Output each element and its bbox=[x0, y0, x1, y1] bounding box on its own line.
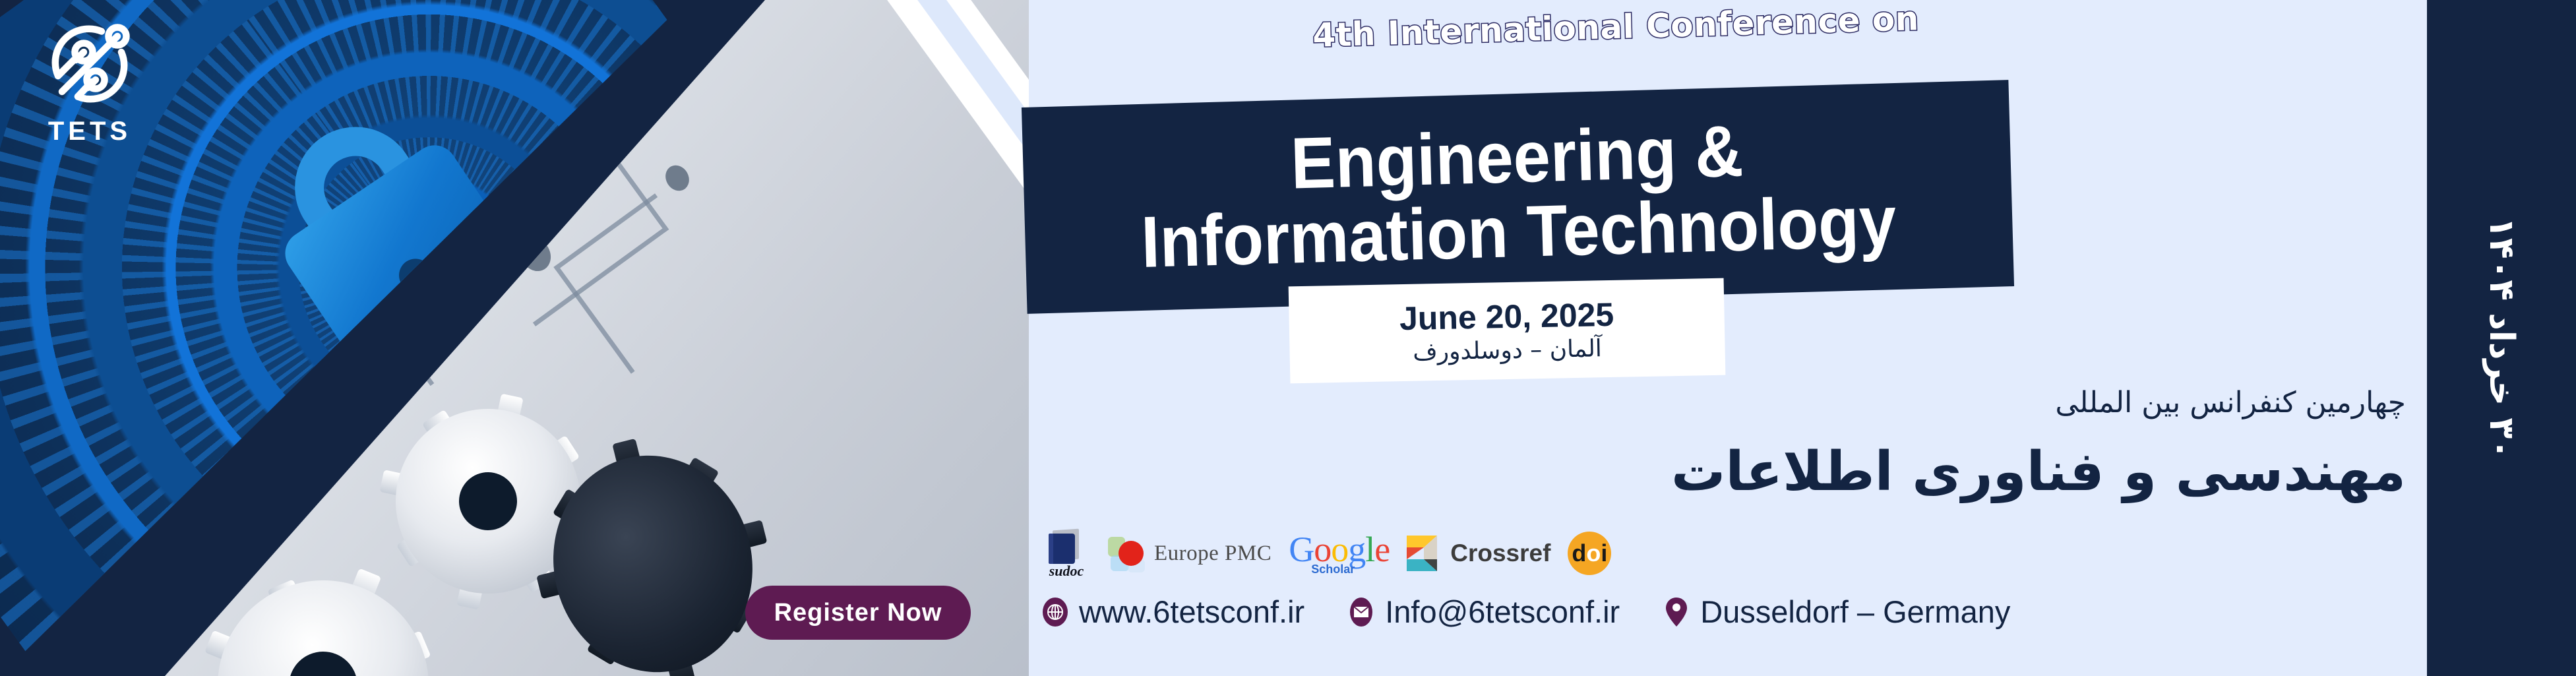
email-text: Info@6tetsconf.ir bbox=[1385, 594, 1620, 630]
title-card: Engineering & Information Technology bbox=[1022, 80, 2014, 314]
pretitle: 4th International Conference on bbox=[1120, 0, 2110, 60]
sudoc-label: sudoc bbox=[1042, 563, 1091, 580]
scholar-sublabel: Scholar bbox=[1311, 563, 1355, 576]
contact-email[interactable]: Info@6tetsconf.ir bbox=[1348, 594, 1620, 630]
location-text: Dusseldorf – Germany bbox=[1700, 594, 2010, 630]
date-card: June 20, 2025 آلمان – دوسلدورف bbox=[1289, 278, 1726, 384]
pretitle-text: 4th International Conference on bbox=[1312, 0, 1919, 55]
doi-badge: doi bbox=[1568, 532, 1611, 575]
sidebar-persian-date: ۳۰ خرداد ۱۴۰۴ bbox=[2482, 217, 2521, 460]
envelope-icon bbox=[1348, 598, 1374, 627]
persian-subtitle: چهارمین کنفرانس بین المللی bbox=[2055, 386, 2406, 419]
right-sidebar: ۳۰ خرداد ۱۴۰۴ bbox=[2427, 0, 2576, 676]
crossref-logo[interactable]: Crossref bbox=[1407, 528, 1550, 579]
doi-logo[interactable]: doi bbox=[1568, 528, 1611, 579]
crossref-label: Crossref bbox=[1450, 539, 1550, 567]
left-artwork bbox=[0, 0, 1029, 676]
globe-icon bbox=[1042, 598, 1068, 627]
map-pin-icon bbox=[1663, 598, 1690, 627]
europe-pmc-label: Europe PMC bbox=[1154, 541, 1272, 566]
sudoc-book-icon bbox=[1049, 534, 1075, 564]
europe-pmc-logo[interactable]: Europe PMC bbox=[1108, 528, 1272, 579]
website-text: www.6tetsconf.ir bbox=[1079, 594, 1304, 630]
google-wordmark: Google bbox=[1289, 532, 1390, 567]
europe-pmc-dot bbox=[1119, 541, 1144, 566]
tets-logo[interactable]: TETS bbox=[30, 15, 149, 153]
crossref-mark bbox=[1407, 533, 1445, 574]
date-english: June 20, 2025 bbox=[1399, 295, 1614, 338]
persian-title: مهندسی و فناوری اطلاعات bbox=[1671, 441, 2406, 503]
sudoc-logo[interactable]: sudoc bbox=[1042, 528, 1091, 579]
register-now-button[interactable]: Register Now bbox=[745, 586, 971, 640]
conference-banner: TETS 4th International Conference on Eng… bbox=[0, 0, 2576, 676]
title-line-2: Information Technology bbox=[1140, 185, 1897, 280]
contact-website[interactable]: www.6tetsconf.ir bbox=[1042, 594, 1304, 630]
contact-row: www.6tetsconf.ir Info@6tetsconf.ir Dusse… bbox=[1042, 594, 2010, 630]
indexing-logos-row: sudoc Europe PMC Google Scholar bbox=[1042, 528, 1611, 579]
circuit-globe-icon bbox=[30, 15, 149, 113]
google-scholar-logo[interactable]: Google Scholar bbox=[1289, 532, 1390, 575]
europe-pmc-mark bbox=[1108, 533, 1149, 574]
tets-wordmark: TETS bbox=[30, 117, 149, 146]
circuit-pad bbox=[661, 161, 693, 195]
location-persian: آلمان – دوسلدورف bbox=[1413, 335, 1602, 365]
contact-location[interactable]: Dusseldorf – Germany bbox=[1663, 594, 2010, 630]
